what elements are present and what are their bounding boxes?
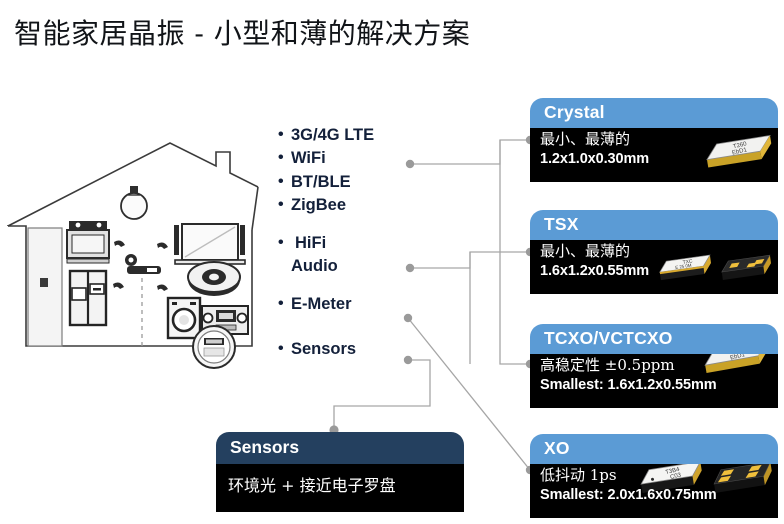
feature-list: • 3G/4G LTE • WiFi • BT/BLE • ZigBee • H… xyxy=(278,124,428,361)
feature-group-connectivity: • 3G/4G LTE • WiFi • BT/BLE • ZigBee xyxy=(278,124,428,218)
wifi-signal-icons xyxy=(113,241,168,291)
panel-line-1: 低抖动 1ps xyxy=(540,466,778,486)
smart-home-illustration xyxy=(2,138,264,384)
feature-group-audio: • HiFi Audio xyxy=(278,232,428,279)
light-bulb-icon xyxy=(121,186,147,219)
bullet-dot-icon: • xyxy=(278,194,291,217)
feature-label: 3G/4G LTE xyxy=(291,124,428,147)
panel-body: T260 EbD1 高稳定性 ±0.5ppm Smallest: 1.6x1.2… xyxy=(530,354,778,408)
bullet-dot-icon: • xyxy=(278,293,291,316)
panel-body: TXC E 25 0M xyxy=(530,240,778,294)
panel-line-1: 最小、最薄的 xyxy=(540,130,778,150)
panel-line-1: 高稳定性 ±0.5ppm xyxy=(540,356,778,376)
product-panel-xo[interactable]: XO T3B4 C03 xyxy=(530,434,778,518)
panel-body: 环境光 + 接近电子罗盘 xyxy=(216,464,464,512)
house-svg xyxy=(2,138,264,384)
feature-label: Sensors xyxy=(291,338,428,361)
panel-title: Sensors xyxy=(216,432,464,464)
panel-line-1: 环境光 + 接近电子罗盘 xyxy=(228,472,464,496)
product-panel-tsx[interactable]: TSX TXC E 25 0M xyxy=(530,210,778,294)
oven-icon xyxy=(67,221,109,263)
feature-label: E-Meter xyxy=(291,293,428,316)
bullet-dot-icon: • xyxy=(278,338,291,361)
panel-title: TSX xyxy=(530,210,778,240)
refrigerator-icon xyxy=(70,271,106,325)
electric-meter-icon xyxy=(193,326,235,368)
feature-label: WiFi xyxy=(291,147,428,170)
panel-line-2: Smallest: 1.6x1.2x0.55mm xyxy=(540,376,778,395)
panel-line-1: 最小、最薄的 xyxy=(540,242,778,262)
feature-label-continuation: Audio xyxy=(291,255,428,278)
list-item: • E-Meter xyxy=(278,293,428,316)
feature-label: BT/BLE xyxy=(291,171,428,194)
panel-line-2: Smallest: 2.0x1.6x0.75mm xyxy=(540,486,778,505)
panel-line-2: 1.6x1.2x0.55mm xyxy=(540,262,778,281)
product-panel-tcxo[interactable]: TCXO/VCTCXO T260 EbD1 高稳定性 ±0.5ppm Small… xyxy=(530,324,778,408)
product-panel-sensors[interactable]: Sensors 环境光 + 接近电子罗盘 xyxy=(216,432,464,512)
house-door xyxy=(28,228,62,346)
panel-line-2: 1.2x1.0x0.30mm xyxy=(540,150,778,169)
panel-title: XO xyxy=(530,434,778,464)
robot-vacuum-icon xyxy=(188,262,240,296)
bullet-dot-icon: • xyxy=(278,147,291,170)
panel-body: T260 EbD1 最小、最薄的 1.2x1.0x0.30mm xyxy=(530,128,778,182)
bullet-dot-icon: • xyxy=(278,171,291,194)
feature-label: HiFi xyxy=(291,232,428,255)
feature-group-sensors: • Sensors xyxy=(278,338,428,361)
list-item: • BT/BLE xyxy=(278,171,428,194)
feature-group-emeter: • E-Meter xyxy=(278,293,428,316)
list-item: • ZigBee xyxy=(278,194,428,217)
product-panel-crystal[interactable]: Crystal T260 EbD1 最小、最薄的 1.2x1.0x0.30mm xyxy=(530,98,778,182)
panel-body: T3B4 C03 xyxy=(530,464,778,518)
panel-title: TCXO/VCTCXO xyxy=(530,324,778,354)
list-item: • Sensors xyxy=(278,338,428,361)
slide-canvas: 智能家居晶振 - 小型和薄的解决方案 xyxy=(0,0,784,524)
bullet-dot-icon: • xyxy=(278,124,291,147)
list-item: • 3G/4G LTE xyxy=(278,124,428,147)
feature-label: ZigBee xyxy=(291,194,428,217)
list-item: • HiFi xyxy=(278,232,428,255)
router-icon xyxy=(125,254,161,274)
bullet-dot-icon: • xyxy=(278,232,291,255)
laptop-icon xyxy=(174,224,245,264)
list-item: • WiFi xyxy=(278,147,428,170)
washing-machine-icon xyxy=(168,298,200,338)
page-title: 智能家居晶振 - 小型和薄的解决方案 xyxy=(14,12,470,52)
panel-title: Crystal xyxy=(530,98,778,128)
